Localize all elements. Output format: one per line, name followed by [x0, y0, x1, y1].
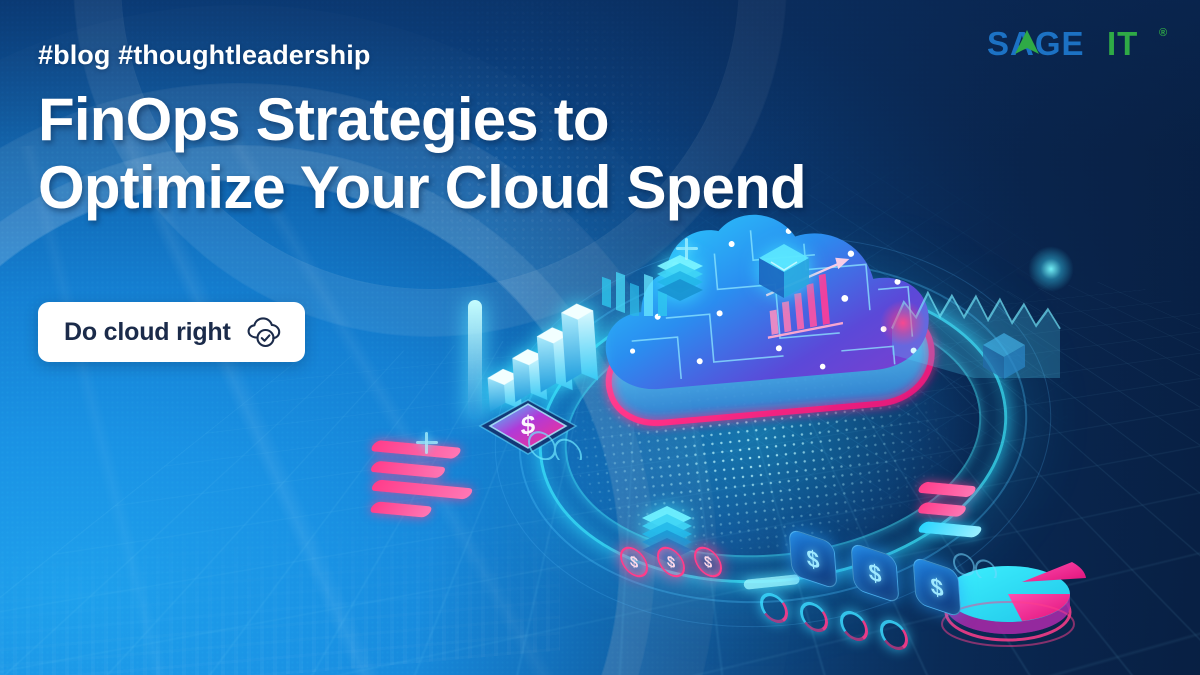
cloud-check-icon [245, 315, 285, 349]
headline-line-2: Optimize Your Cloud Spend [38, 154, 1098, 222]
blog-banner: $ [0, 0, 1200, 675]
page-title: FinOps Strategies to Optimize Your Cloud… [38, 86, 1098, 223]
banner-content: #blog #thoughtleadership FinOps Strategi… [0, 0, 1200, 675]
logo-word-it: IT [1107, 25, 1138, 62]
logo-trademark: ® [1159, 27, 1168, 39]
cta-label: Do cloud right [64, 318, 231, 347]
logo-word-sage: SAGE [987, 25, 1085, 62]
headline-line-1: FinOps Strategies to [38, 86, 1098, 154]
hashtags: #blog #thoughtleadership [38, 40, 370, 71]
do-cloud-right-button[interactable]: Do cloud right [38, 302, 305, 362]
logo-graphic: SAGE IT ® [987, 24, 1172, 68]
sage-it-logo[interactable]: SAGE IT ® [987, 24, 1172, 68]
